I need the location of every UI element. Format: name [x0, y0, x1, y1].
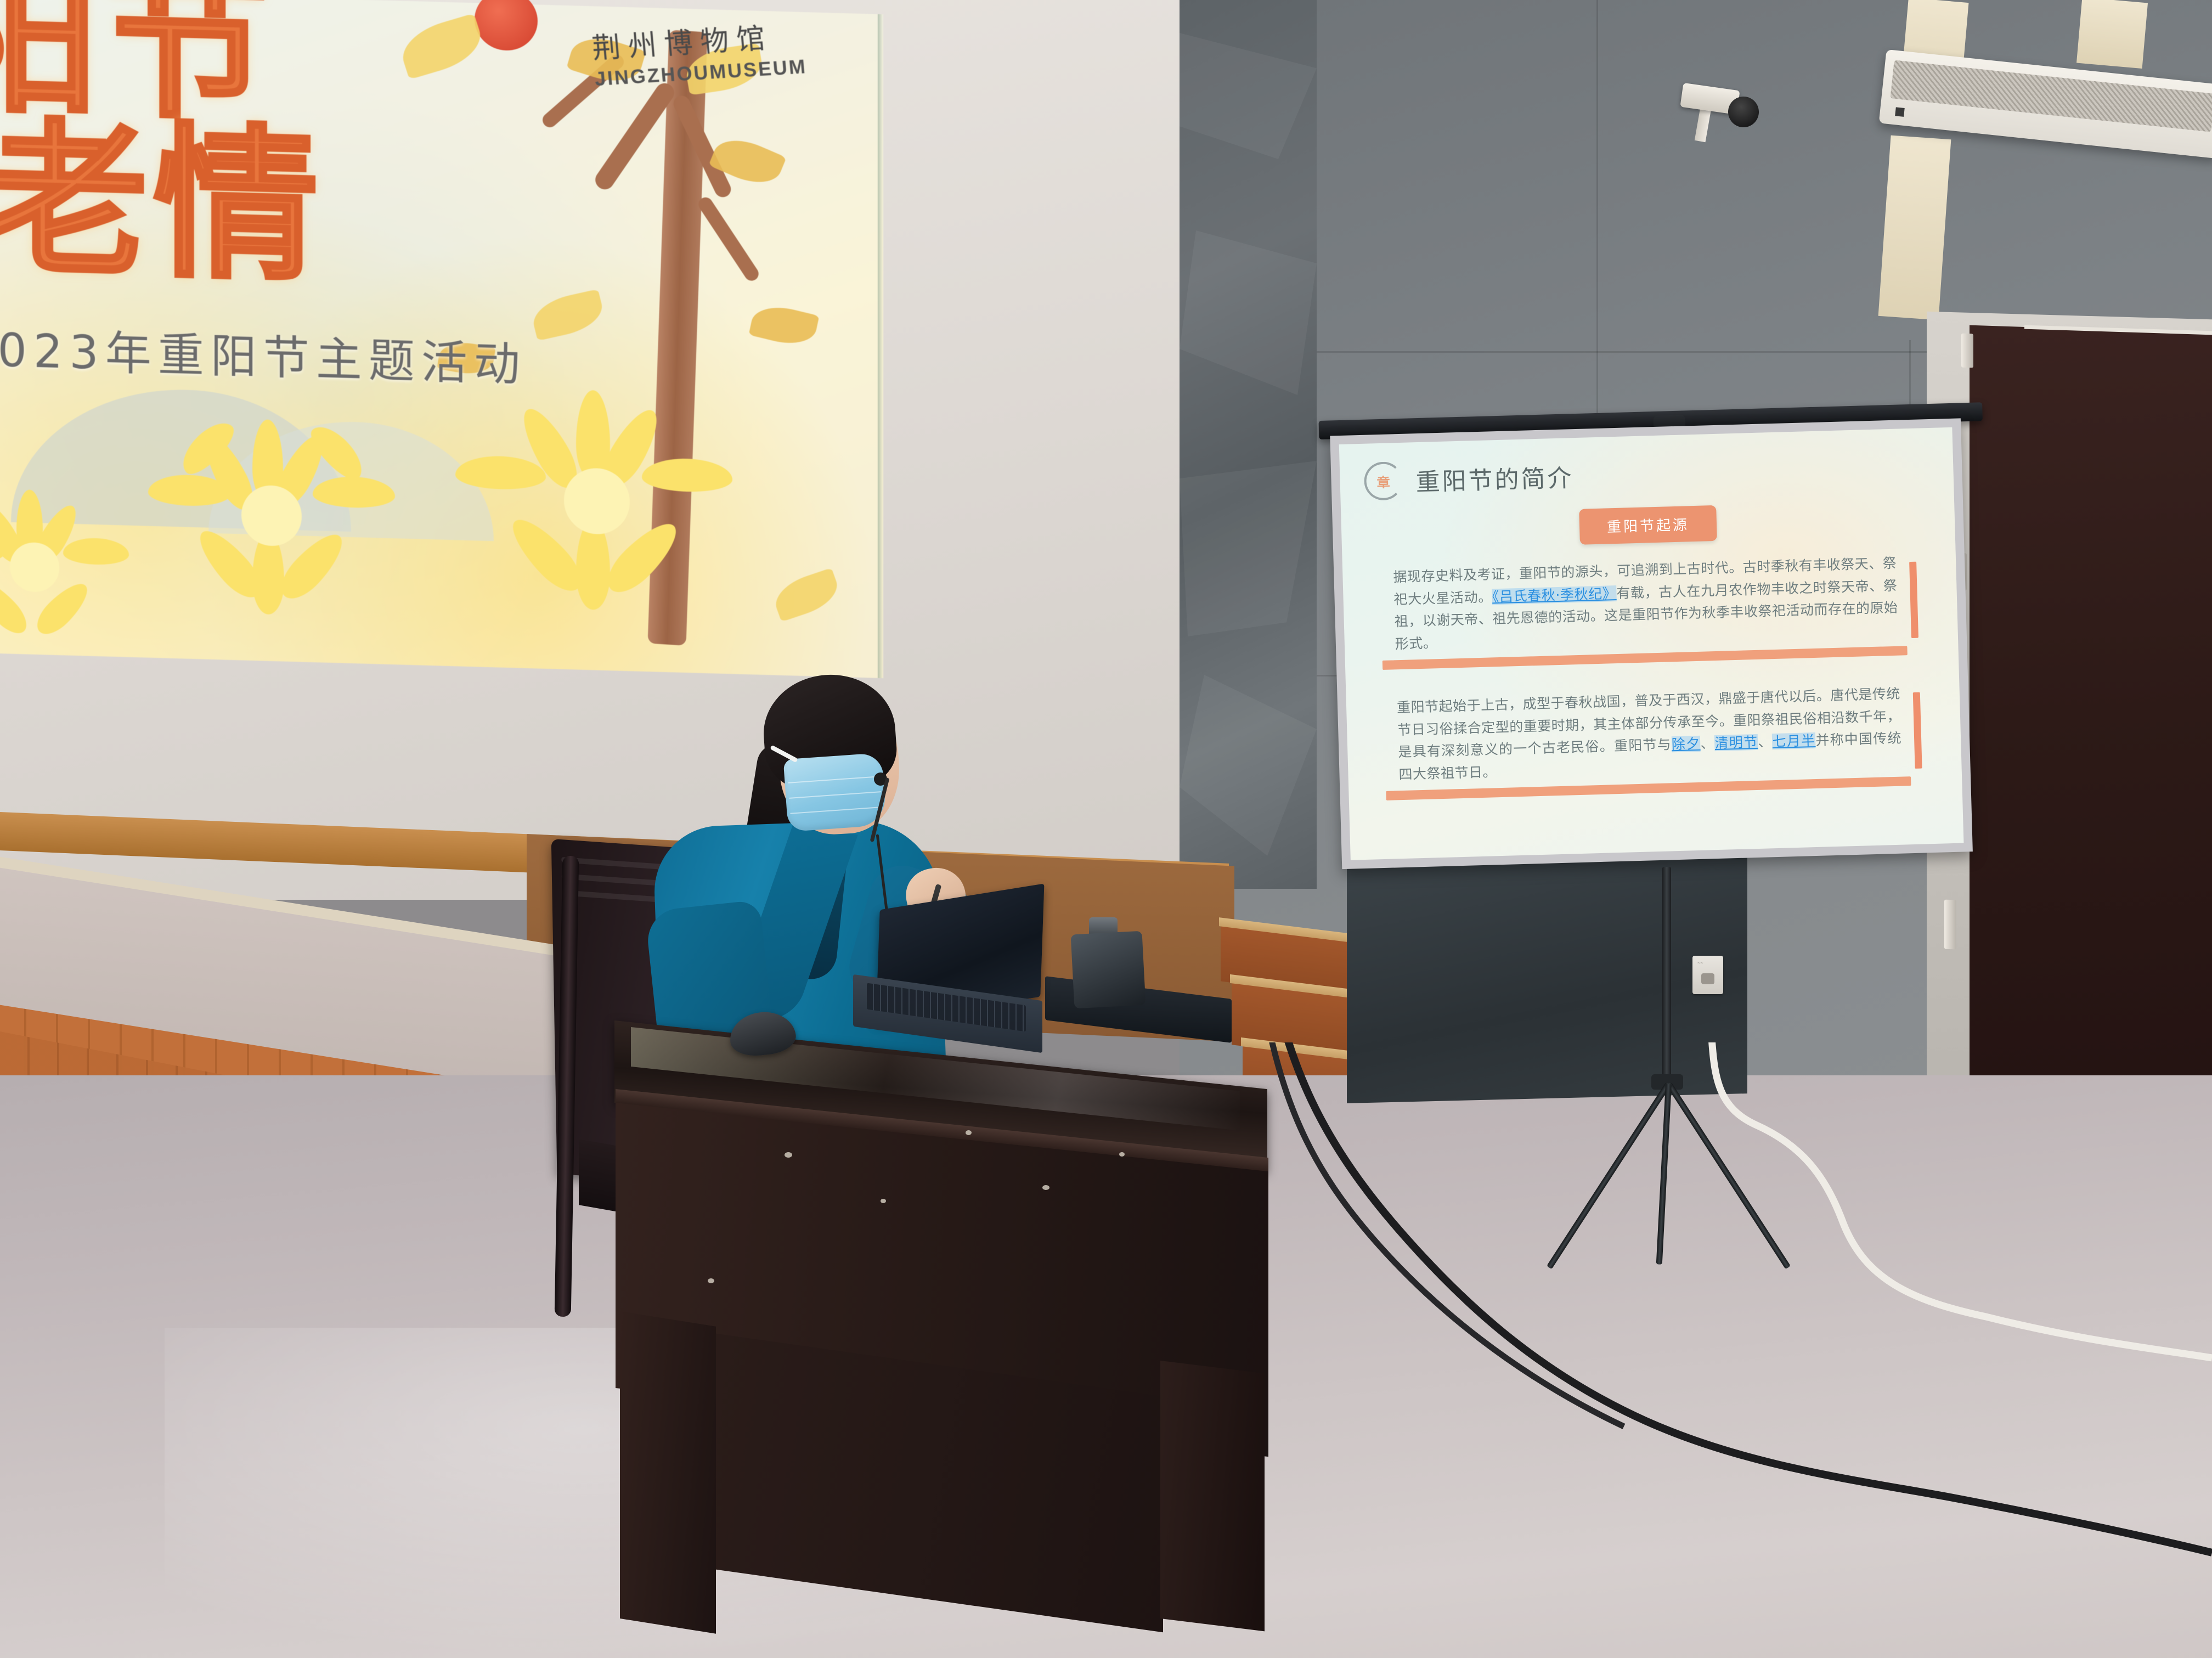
slide-hyperlink[interactable]: 清明节 — [1714, 734, 1758, 751]
banner-subtitle: 2023年重阳节主题活动 — [0, 312, 527, 394]
chrysanthemum-cluster-1 — [159, 411, 390, 648]
slide-hyperlink[interactable]: 除夕 — [1672, 736, 1701, 752]
presentation-slide: 章 重阳节的简介 重阳节起源 据现存史料及考证，重阳节的源头，可追溯到上古时代。… — [1339, 427, 1964, 860]
slide-rule-right-1 — [1909, 562, 1918, 639]
left-projection-screen: 荆州博物馆 JINGZHOUMUSEUM 阳节 老情 2023年重阳节主题活动 — [0, 0, 883, 678]
outlet-label: ~~ — [1697, 960, 1703, 966]
slide-paragraph-block-2: 重阳节起始于上古，成型于春秋战国，普及于西汉，鼎盛于唐代以后。唐代是传统节日习俗… — [1374, 682, 1934, 786]
door-hinge-top — [1961, 334, 1973, 368]
berry-icon — [475, 0, 538, 51]
slide-title: 重阳节的简介 — [1415, 458, 1575, 498]
desk-leg-right — [1160, 1361, 1265, 1631]
slide-section-pill: 重阳节起源 — [1579, 505, 1717, 545]
projector-screen[interactable]: 章 重阳节的简介 重阳节起源 据现存史料及考证，重阳节的源头，可追溯到上古时代。… — [1330, 403, 1984, 881]
slide-rule-right-2 — [1913, 692, 1922, 769]
slide-header: 章 重阳节的简介 — [1364, 447, 1930, 501]
door[interactable] — [1970, 325, 2212, 1102]
chrysanthemum-cluster-2 — [472, 387, 724, 652]
ceiling-light-strip-2 — [2076, 0, 2148, 69]
slide-hyperlink[interactable]: 《吕氏春秋·季秋纪》 — [1492, 585, 1616, 605]
chrysanthemum-cluster-3 — [0, 482, 126, 668]
face-mask — [783, 753, 887, 832]
decorative-stone-panel — [1180, 0, 1317, 889]
wall-power-outlet[interactable]: ~~ — [1692, 956, 1723, 994]
slide-hyperlink[interactable]: 七月半 — [1772, 732, 1816, 749]
screen-surface: 章 重阳节的简介 重阳节起源 据现存史料及考证，重阳节的源头，可追溯到上古时代。… — [1330, 418, 1973, 869]
slide-paragraph-block-1: 据现存史料及考证，重阳节的源头，可追溯到上古时代。古时季秋有丰收祭天、祭祀大火星… — [1370, 551, 1931, 656]
outlet-socket-hole — [1701, 973, 1714, 984]
slide-paragraph-2: 重阳节起始于上古，成型于春秋战国，普及于西汉，鼎盛于唐代以后。唐代是传统节日习俗… — [1397, 683, 1903, 786]
slide-paragraph-1: 据现存史料及考证，重阳节的源头，可追溯到上古时代。古时季秋有丰收祭天、祭祀大火星… — [1393, 552, 1899, 656]
equipment-case[interactable] — [1071, 931, 1146, 1009]
photo-scene: 荆州博物馆 JINGZHOUMUSEUM 阳节 老情 2023年重阳节主题活动 — [0, 0, 2212, 1658]
slide-seal-glyph: 章 — [1376, 471, 1390, 491]
museum-logo: 荆州博物馆 JINGZHOUMUSEUM — [590, 13, 808, 91]
banner-calligraphy-line-2: 老情 — [0, 115, 324, 289]
desk-leg-left — [620, 1311, 716, 1634]
screen-skirt — [1347, 858, 1747, 1103]
door-hinge-bottom — [1944, 900, 1956, 950]
slide-seal-icon: 章 — [1364, 461, 1403, 501]
ceiling-light-strip-3 — [1878, 136, 1951, 320]
